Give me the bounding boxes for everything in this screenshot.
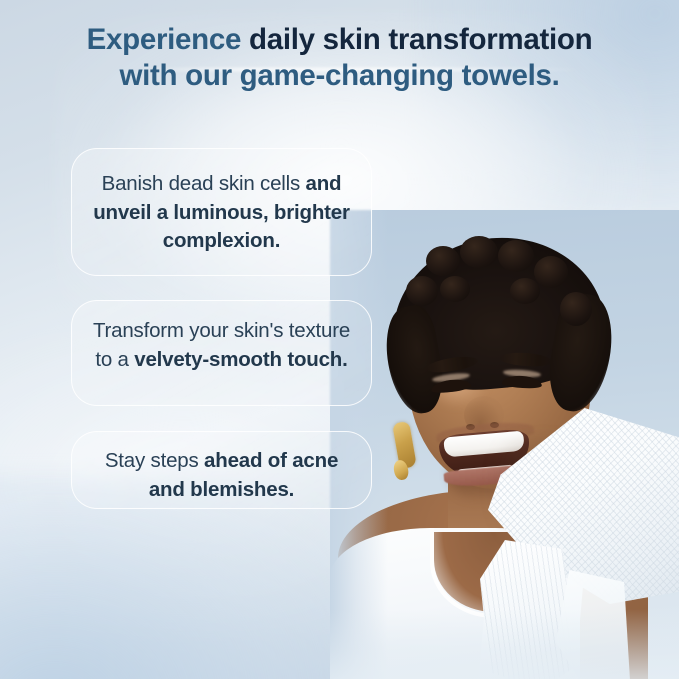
feature-card-acne: Stay steps ahead of acne and blemishes. (71, 431, 372, 509)
photo-edge-fade-bottom (330, 609, 679, 679)
hair-curl (510, 278, 540, 304)
feature-card-text: Banish dead skin cells and unveil a lumi… (88, 170, 355, 256)
headline-light-text: Experience (87, 23, 249, 56)
hair-curl (406, 276, 438, 306)
hair-curl (426, 246, 460, 276)
headline-line-1: Experience daily skin transformation (0, 22, 679, 58)
headline: Experience daily skin transformation wit… (0, 22, 679, 95)
feature-card-texture: Transform your skin's texture to a velve… (71, 300, 372, 406)
feature-text-plain: Banish dead skin cells (102, 172, 306, 195)
hair-curl (560, 292, 592, 326)
hair-curl (534, 256, 568, 288)
feature-text-bold: velvety-smooth touch. (134, 348, 347, 371)
headline-bold-text: daily skin transformation (249, 23, 592, 56)
feature-card-list: Banish dead skin cells and unveil a lumi… (71, 148, 372, 509)
feature-text-plain: Stay steps (105, 449, 204, 472)
promo-banner: Experience daily skin transformation wit… (0, 0, 679, 679)
headline-line-2: with our game-changing towels. (0, 58, 679, 94)
feature-card-text: Stay steps ahead of acne and blemishes. (88, 447, 355, 504)
hair-curl (440, 276, 470, 302)
model-photo (330, 210, 679, 679)
feature-card-exfoliation: Banish dead skin cells and unveil a lumi… (71, 148, 372, 276)
hair-curl (460, 236, 498, 268)
hair-curl (498, 240, 534, 272)
feature-card-text: Transform your skin's texture to a velve… (88, 317, 355, 374)
